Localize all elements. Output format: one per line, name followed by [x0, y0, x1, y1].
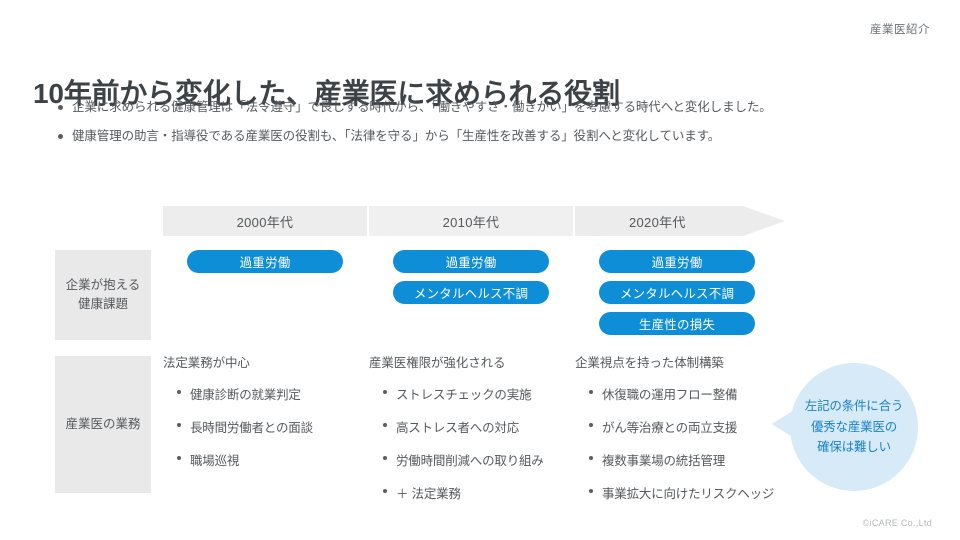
list-item: ストレスチェックの実施 [369, 384, 579, 403]
duties-column-2000s: 法定業務が中心 健康診断の就業判定 長時間労働者との面談 職場巡視 [163, 352, 373, 483]
callout-line-1: 左記の条件に合う [805, 399, 903, 413]
row-label-line-2: 健康課題 [78, 297, 128, 311]
callout-bubble: 左記の条件に合う 優秀な産業医の 確保は難しい [790, 363, 918, 491]
status-badge: 過重労働 [393, 250, 549, 273]
bullet-dot-icon [177, 390, 181, 394]
status-badge: メンタルヘルス不調 [599, 281, 755, 304]
bullet-dot-icon [383, 456, 387, 460]
duties-item-text: ＋ 法定業務 [396, 483, 461, 502]
timeline-segment-2010s: 2010年代 [369, 206, 573, 236]
list-item: ＋ 法定業務 [369, 483, 579, 502]
callout-line-2: 優秀な産業医の [811, 420, 897, 434]
duties-item-text: 長時間労働者との面談 [190, 417, 313, 436]
bullet-dot-icon [589, 489, 593, 493]
slide-kicker: 産業医紹介 [870, 21, 930, 37]
bullet-dot-icon [589, 456, 593, 460]
row-label-health-issues: 企業が抱える 健康課題 [55, 250, 151, 340]
duties-item-text: がん等治療との両立支援 [602, 417, 737, 436]
issues-column-2010s: 過重労働 メンタルヘルス不調 [369, 250, 573, 304]
lede-bullet-text: 企業に求められる健康管理は「法令遵守」で良しする時代から、「働きやすさ・働きがい… [72, 99, 772, 116]
status-badge: 過重労働 [599, 250, 755, 273]
duties-item-text: 複数事業場の統括管理 [602, 450, 725, 469]
callout-bubble-text: 左記の条件に合う 優秀な産業医の 確保は難しい [805, 396, 903, 458]
list-item: 複数事業場の統括管理 [575, 450, 785, 469]
duties-item-text: 健康診断の就業判定 [190, 384, 301, 403]
duties-item-text: ストレスチェックの実施 [396, 384, 531, 403]
bullet-dot-icon [383, 489, 387, 493]
duties-column-heading: 法定業務が中心 [163, 352, 373, 371]
list-item: 職場巡視 [163, 450, 373, 469]
list-item: 健康診断の就業判定 [163, 384, 373, 403]
list-item: がん等治療との両立支援 [575, 417, 785, 436]
slide-canvas: 産業医紹介 10年前から変化した、産業医に求められる役割 企業に求められる健康管… [0, 0, 960, 540]
row-label-health-issues-text: 企業が抱える 健康課題 [66, 276, 141, 315]
callout-line-3: 確保は難しい [817, 440, 891, 454]
list-item: 休復職の運用フロー整備 [575, 384, 785, 403]
row-label-occupational-physician-duties: 産業医の業務 [55, 356, 151, 493]
list-item: 健康管理の助言・指導役である産業医の役割も、「法律を守る」から「生産性を改善する… [58, 128, 938, 145]
duties-item-text: 労働時間削減への取り組み [396, 450, 544, 469]
duties-column-heading: 産業医権限が強化される [369, 352, 579, 371]
duties-item-text: 職場巡視 [190, 450, 239, 469]
timeline-segment-2020s-arrow: 2020年代 [575, 206, 785, 236]
row-label-line-1: 企業が抱える [66, 278, 141, 292]
bullet-dot-icon [589, 423, 593, 427]
list-item: 長時間労働者との面談 [163, 417, 373, 436]
duties-column-2010s: 産業医権限が強化される ストレスチェックの実施 高ストレス者への対応 労働時間削… [369, 352, 579, 516]
list-item: 高ストレス者への対応 [369, 417, 579, 436]
status-badge: 生産性の損失 [599, 312, 755, 335]
bullet-dot-icon [177, 456, 181, 460]
status-badge: 過重労働 [187, 250, 343, 273]
status-badge: メンタルヘルス不調 [393, 281, 549, 304]
bullet-dot-icon [383, 390, 387, 394]
footer-copyright: ©iCARE Co.,Ltd [863, 518, 932, 528]
lede-bullet-list: 企業に求められる健康管理は「法令遵守」で良しする時代から、「働きやすさ・働きがい… [58, 99, 938, 157]
list-item: 事業拡大に向けたリスクヘッジ [575, 483, 785, 502]
duties-item-text: 事業拡大に向けたリスクヘッジ [602, 483, 774, 502]
list-item: 労働時間削減への取り組み [369, 450, 579, 469]
duties-column-2020s: 企業視点を持った体制構築 休復職の運用フロー整備 がん等治療との両立支援 複数事… [575, 352, 785, 516]
bullet-dot-icon [58, 105, 63, 110]
bullet-dot-icon [177, 423, 181, 427]
duties-item-text: 高ストレス者への対応 [396, 417, 519, 436]
timeline-segment-2000s: 2000年代 [163, 206, 367, 236]
bullet-dot-icon [589, 390, 593, 394]
issues-column-2000s: 過重労働 [163, 250, 367, 273]
duties-column-heading: 企業視点を持った体制構築 [575, 352, 785, 371]
bullet-dot-icon [383, 423, 387, 427]
issues-column-2020s: 過重労働 メンタルヘルス不調 生産性の損失 [575, 250, 779, 335]
lede-bullet-text: 健康管理の助言・指導役である産業医の役割も、「法律を守る」から「生産性を改善する… [72, 128, 720, 145]
duties-item-text: 休復職の運用フロー整備 [602, 384, 737, 403]
list-item: 企業に求められる健康管理は「法令遵守」で良しする時代から、「働きやすさ・働きがい… [58, 99, 938, 116]
bullet-dot-icon [58, 134, 63, 139]
timeline-arrow-band: 2000年代 2010年代 2020年代 [163, 206, 785, 236]
